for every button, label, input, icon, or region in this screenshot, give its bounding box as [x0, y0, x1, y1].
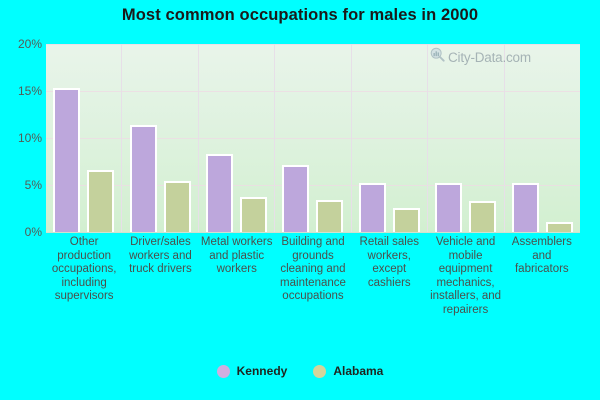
bar-alabama[interactable]	[87, 170, 114, 232]
bar-pair	[428, 44, 503, 232]
watermark-text: City-Data.com	[448, 50, 531, 65]
legend-label: Kennedy	[237, 364, 288, 378]
bar-group	[505, 44, 580, 232]
bar-kennedy[interactable]	[512, 183, 539, 232]
legend-swatch-icon	[217, 365, 230, 378]
bar-group	[199, 44, 275, 232]
watermark: City-Data.com	[430, 47, 531, 67]
bar-group	[122, 44, 198, 232]
y-axis-tick-label: 10%	[2, 131, 42, 145]
y-axis-tick-label: 20%	[2, 37, 42, 51]
bar-pair	[122, 44, 197, 232]
bar-kennedy[interactable]	[282, 165, 309, 232]
legend-item-kennedy[interactable]: Kennedy	[217, 364, 288, 378]
bar-alabama[interactable]	[546, 222, 573, 232]
x-axis-tick-label: Retail sales workers, except cashiers	[351, 236, 427, 356]
chart-container: Most common occupations for males in 200…	[0, 0, 600, 400]
x-axis-tick-label: Other production occupations, including …	[46, 236, 122, 356]
bar-alabama[interactable]	[164, 181, 191, 232]
bar-kennedy[interactable]	[435, 183, 462, 232]
bar-pair	[46, 44, 121, 232]
bar-kennedy[interactable]	[130, 125, 157, 232]
bar-group	[352, 44, 428, 232]
x-axis-labels: Other production occupations, including …	[46, 236, 580, 356]
bar-alabama[interactable]	[240, 197, 267, 232]
x-axis-tick-label: Vehicle and mobile equipment mechanics, …	[427, 236, 503, 356]
y-axis-tick-label: 5%	[2, 178, 42, 192]
x-axis-tick-label: Building and grounds cleaning and mainte…	[275, 236, 351, 356]
bar-group	[428, 44, 504, 232]
bar-kennedy[interactable]	[53, 88, 80, 232]
legend-item-alabama[interactable]: Alabama	[313, 364, 383, 378]
chart-title: Most common occupations for males in 200…	[0, 6, 600, 25]
x-axis-tick-label: Assemblers and fabricators	[504, 236, 580, 356]
bar-pair	[199, 44, 274, 232]
bar-alabama[interactable]	[316, 200, 343, 232]
x-axis-tick-label: Driver/sales workers and truck drivers	[122, 236, 198, 356]
y-axis: 0%5%10%15%20%	[0, 0, 42, 400]
legend-label: Alabama	[333, 364, 383, 378]
bar-pair	[352, 44, 427, 232]
magnifier-chart-icon	[430, 47, 445, 67]
chart-legend: KennedyAlabama	[0, 364, 600, 378]
bar-alabama[interactable]	[393, 208, 420, 232]
y-axis-tick-label: 15%	[2, 84, 42, 98]
bar-pair	[505, 44, 580, 232]
bar-alabama[interactable]	[469, 201, 496, 232]
bar-kennedy[interactable]	[206, 154, 233, 232]
x-axis-tick-label: Metal workers and plastic workers	[199, 236, 275, 356]
bar-pair	[275, 44, 350, 232]
bar-groups	[46, 44, 580, 232]
legend-swatch-icon	[313, 365, 326, 378]
bar-group	[46, 44, 122, 232]
bar-group	[275, 44, 351, 232]
x-axis-baseline	[46, 232, 580, 233]
bar-kennedy[interactable]	[359, 183, 386, 232]
y-axis-tick-label: 0%	[2, 225, 42, 239]
